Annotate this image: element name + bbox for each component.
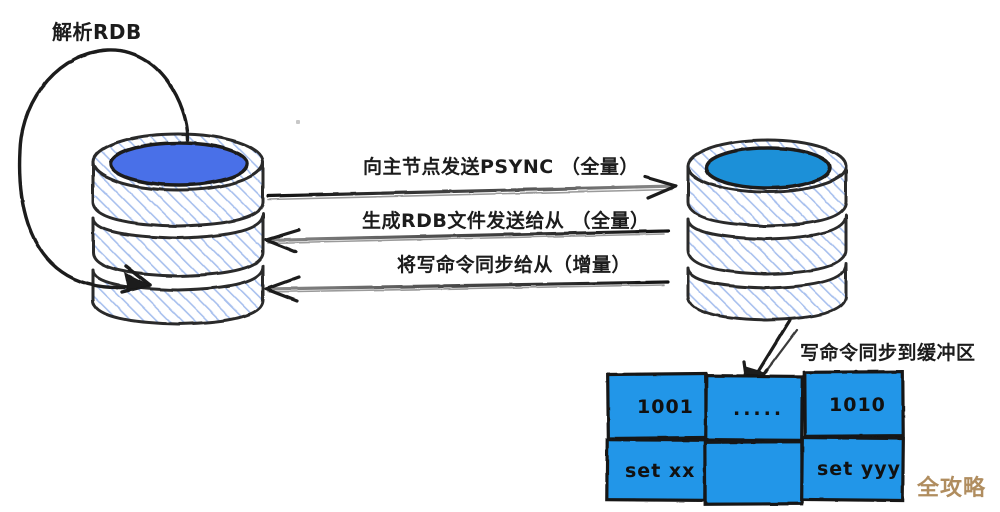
buffer-cell-text-set-yyy: set yyy (817, 458, 901, 480)
label-arrow-psync: 向主节点发送PSYNC （全量） (363, 152, 639, 179)
ink-speck (296, 120, 300, 124)
label-parse-rdb: 解析RDB (52, 16, 142, 45)
label-arrow-write-cmd: 将写命令同步给从（增量） (397, 250, 631, 277)
watermark: 全攻略 (917, 470, 986, 502)
buffer-cell-text-1010: 1010 (829, 394, 886, 416)
diagram-canvas: 解析RDB 向主节点发送PSYNC （全量） 生成RDB文件发送给从 （全量） … (0, 0, 1000, 512)
label-buffer-note: 写命令同步到缓冲区 (800, 338, 976, 365)
label-arrow-rdb-file: 生成RDB文件发送给从 （全量） (362, 206, 650, 233)
buffer-cell-text-set-xx: set xx (625, 460, 695, 482)
text-layer: 解析RDB 向主节点发送PSYNC （全量） 生成RDB文件发送给从 （全量） … (0, 0, 1000, 512)
buffer-cell-text-ellipsis: ..... (733, 398, 784, 420)
buffer-cell-text-1001: 1001 (637, 396, 694, 418)
